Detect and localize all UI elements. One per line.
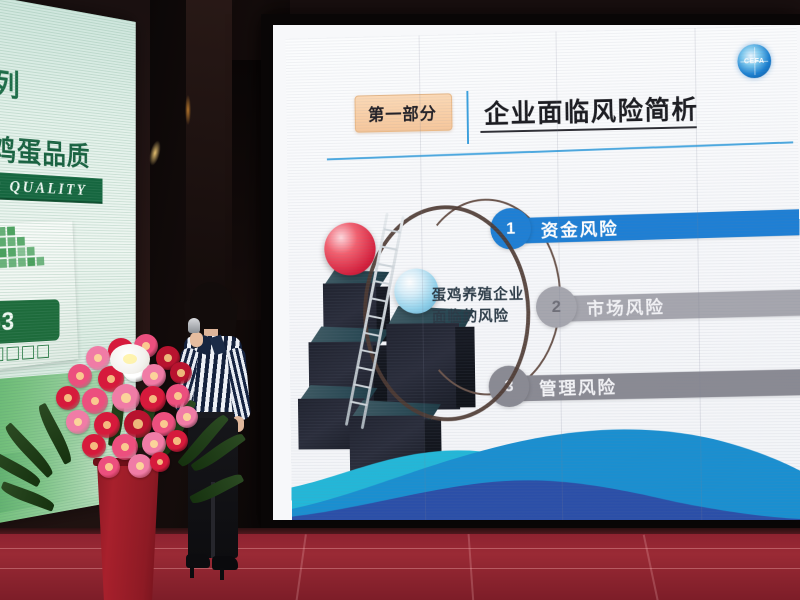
red-sphere bbox=[324, 222, 376, 276]
flower-bloom bbox=[128, 454, 152, 478]
center-caption-line-2: 面临的风险 bbox=[432, 305, 525, 327]
flower-bloom bbox=[82, 434, 106, 458]
flower-bloom bbox=[112, 384, 140, 412]
slide-title: 企业面临风险简析 bbox=[484, 89, 699, 130]
header-vertical-divider bbox=[466, 91, 469, 144]
stage-light-glow-secondary bbox=[185, 95, 191, 125]
header-blue-rule bbox=[327, 141, 793, 160]
risk-item-2[interactable]: 市场风险 2 bbox=[536, 283, 800, 330]
flower-bloom bbox=[56, 386, 80, 410]
presenter-heel-right bbox=[220, 568, 224, 580]
flower-bloom bbox=[150, 452, 170, 472]
section-tag-label: 第一部分 bbox=[354, 93, 450, 130]
risk-item-2-number[interactable]: 2 bbox=[536, 286, 577, 328]
flower-bloom bbox=[170, 362, 192, 384]
risk-item-1-bar[interactable]: 资金风险 bbox=[519, 208, 800, 243]
flower-bloom bbox=[68, 364, 92, 388]
risk-item-2-bar[interactable]: 市场风险 bbox=[565, 289, 800, 322]
cefa-globe-logo: CEFA bbox=[737, 44, 771, 79]
center-caption: 蛋鸡养殖企业 面临的风险 bbox=[432, 284, 525, 328]
wall-panel-left bbox=[186, 0, 232, 300]
logo-text: CEFA bbox=[737, 44, 771, 79]
floral-arrangement bbox=[38, 330, 218, 600]
flower-vase bbox=[86, 460, 170, 600]
center-caption-line-1: 蛋鸡养殖企业 bbox=[432, 284, 525, 307]
risk-item-1[interactable]: 资金风险 1 bbox=[490, 203, 800, 252]
flower-bloom bbox=[166, 384, 190, 408]
flower-bloom bbox=[140, 386, 166, 412]
flower-bloom bbox=[166, 430, 188, 452]
flower-bloom bbox=[98, 456, 120, 478]
white-orchid bbox=[110, 344, 150, 374]
flower-bloom bbox=[176, 406, 198, 428]
flower-bloom bbox=[66, 410, 90, 434]
presentation-slide: CEFA 第一部分 企业面临风险简析 bbox=[273, 25, 800, 520]
flower-bloom bbox=[82, 388, 108, 414]
photo-canvas: 药系列 子的鸡蛋品质 TER QUALITY 安佑牌 A1253 CEFA bbox=[0, 0, 800, 600]
